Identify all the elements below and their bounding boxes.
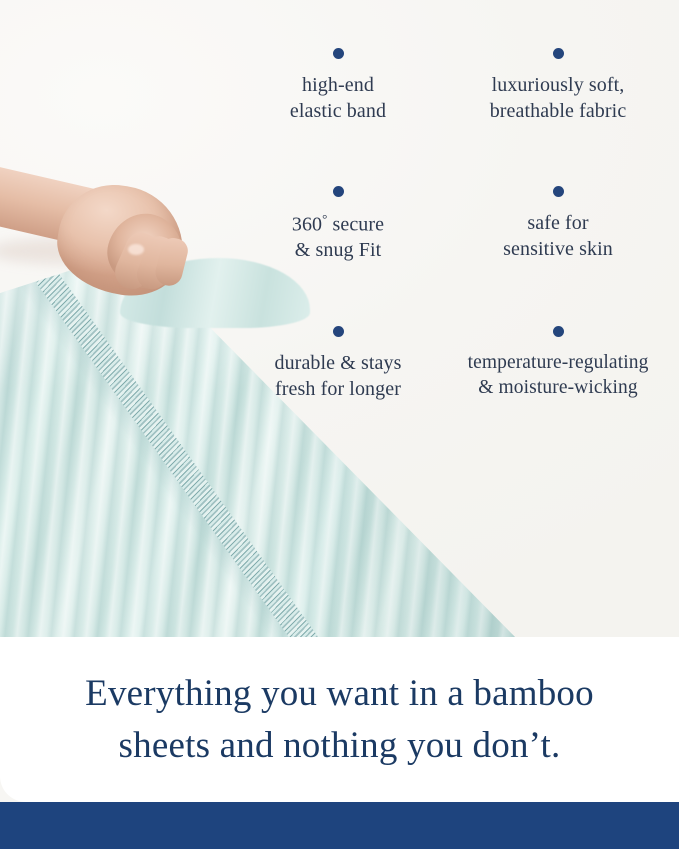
feature-label: safe for sensitive skin [452,211,664,262]
bullet-dot-icon [553,186,564,197]
bullet-dot-icon [333,48,344,59]
product-feature-banner: high-end elastic band luxuriously soft, … [0,0,679,849]
feature-label: luxuriously soft, breathable fabric [452,73,664,124]
feature-luxuriously-soft-breathable: luxuriously soft, breathable fabric [448,48,668,124]
feature-grid: high-end elastic band luxuriously soft, … [228,48,668,402]
bullet-dot-icon [553,48,564,59]
bullet-dot-icon [333,186,344,197]
bullet-dot-icon [333,326,344,337]
feature-temperature-regulating: temperature-regulating & moisture-wickin… [448,326,668,402]
feature-label: durable & stays fresh for longer [232,351,444,402]
feature-label: high-end elastic band [232,73,444,124]
product-photo: high-end elastic band luxuriously soft, … [0,0,679,637]
feature-safe-for-sensitive-skin: safe for sensitive skin [448,186,668,264]
feature-360-secure-snug-fit: 360° secure & snug Fit [228,186,448,264]
headline-panel: Everything you want in a bamboo sheets a… [0,637,679,802]
feature-prefix: 360 [292,214,322,236]
footer-bar [0,802,679,849]
headline-text: Everything you want in a bamboo sheets a… [71,668,608,770]
feature-label: 360° secure & snug Fit [232,211,444,264]
feature-label: temperature-regulating & moisture-wickin… [452,351,664,401]
feature-durable-stays-fresh: durable & stays fresh for longer [228,326,448,402]
bullet-dot-icon [553,326,564,337]
fingernail-highlight [128,244,144,255]
feature-high-end-elastic-band: high-end elastic band [228,48,448,124]
